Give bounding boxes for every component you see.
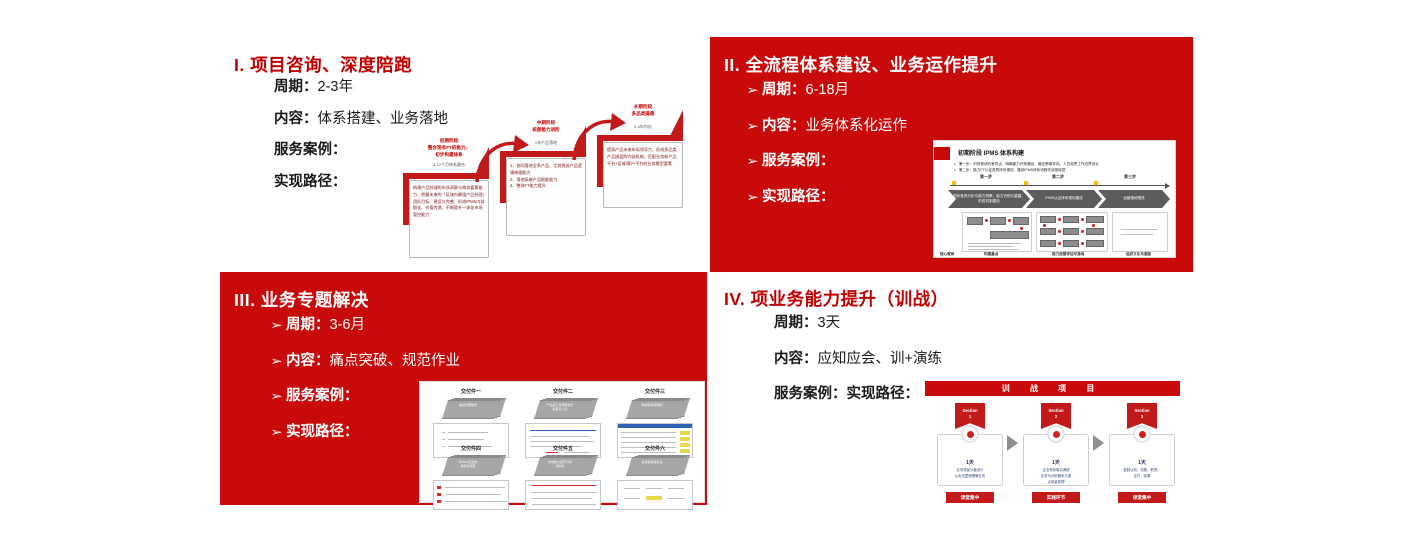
- ipms-bullet-0: 第一步：识别现状的差异点、明确能力识别路径、确定策略导向、人员权责工作边界设计: [954, 162, 1099, 167]
- ipms-node: [990, 231, 1029, 239]
- ipms-footer-3: 组织文化与激励: [1126, 252, 1151, 257]
- quadrant-iii-line-1-label: 内容：: [286, 354, 330, 369]
- ipms-connector-dot: [985, 219, 988, 222]
- list-item: 周期： 2-3年: [274, 80, 448, 95]
- quadrant-iii-line-2-label: 服务案例：: [286, 389, 359, 404]
- training-column-2: 1天 企业现状痛点调研业务为分析解析与重点场景梳理 Section 2 实践环节: [1021, 403, 1091, 429]
- training-card-2-desc: 企业现状痛点调研业务为分析解析与重点场景梳理: [1024, 468, 1088, 485]
- quadrant-ii-lines: ➢ 周期： 6-18月 ➢ 内容： 业务体系化运作 ➢ 服务案例： ➢ 实现路径…: [748, 83, 907, 204]
- ipms-footer-0: 核心载体: [940, 252, 954, 257]
- quadrant-iv-line-0-label: 周期：: [774, 316, 818, 331]
- ipms-connector-dot: [1081, 230, 1084, 233]
- deliverable-5-stack-icon: 市场能力差异分析评估表: [526, 455, 600, 477]
- training-ribbon-1-no: 1: [969, 414, 971, 419]
- deliverable-5-stack-label: 市场能力差异分析评估表: [536, 460, 584, 468]
- ipms-note-line: [968, 246, 1014, 247]
- training-footer-3: 课堂集中: [1118, 492, 1166, 503]
- bullet-arrow-icon: ➢: [270, 426, 288, 438]
- ipms-phase-1-chevron: IPMS认证体系规划建设: [1026, 190, 1102, 208]
- ipms-connector-dot: [1058, 242, 1061, 245]
- deliverable-5-preview: [525, 480, 601, 510]
- ipms-connector-dot: [1020, 227, 1023, 230]
- quadrant-ii-line-2-label: 服务案例：: [762, 154, 835, 169]
- ipms-tick-1: [1024, 181, 1028, 185]
- bullet-arrow-icon: ➢: [746, 191, 764, 203]
- bullet-arrow-icon: ➢: [746, 155, 764, 167]
- list-item: ➢ 周期： 6-18月: [748, 83, 907, 98]
- quadrant-ii-line-1-label: 内容：: [762, 119, 806, 134]
- training-card-3-desc: 复制认知、流程、职责、交付、结果: [1110, 468, 1174, 480]
- list-item: 内容： 应知应会、训+演练: [774, 352, 942, 367]
- ipms-note-line: [1121, 234, 1153, 235]
- training-node-3-icon: [1133, 425, 1151, 443]
- list-item: ➢ 实现路径：: [748, 190, 907, 205]
- deliverable-2-title: 交付件二: [520, 388, 606, 395]
- list-item: ➢ 服务案例：: [748, 154, 907, 169]
- quadrant-iv-line-1-value: 应知应会、训+演练: [818, 352, 942, 367]
- training-ribbon-3-label: Section: [1134, 408, 1149, 413]
- staircase-diagram-image: 初期阶段整合现有FT的能力、初步构建体系 6-12个月体系磨合 构建产品经理的市…: [395, 118, 705, 270]
- ipms-node: [1086, 228, 1104, 235]
- training-column-1: 1天 业务场景沙盘设计从实战逻辑理解业务 Section 1 课堂集中: [935, 403, 1005, 429]
- quadrant-i-line-1-label: 内容：: [274, 112, 318, 127]
- ipms-note-line: [1121, 229, 1157, 230]
- training-card-1-desc: 业务场景沙盘设计从实战逻辑理解业务: [938, 468, 1002, 480]
- list-item: ➢ 周期： 3-6月: [272, 318, 460, 333]
- training-footer-2: 实践环节: [1032, 492, 1080, 503]
- list-item: ➢ 内容： 痛点突破、规范作业: [272, 354, 460, 369]
- deliverable-cell-5: 交付件五 市场能力差异分析评估表: [520, 445, 606, 510]
- ipms-note-line: [968, 249, 1018, 250]
- ipms-footer-2: 能力运营评估与落地: [1052, 252, 1084, 257]
- ipms-phase-0-box: [962, 212, 1032, 252]
- ipms-connector-dot: [1081, 242, 1084, 245]
- ipms-node: [1040, 228, 1056, 235]
- quadrant-iv-lines: 周期： 3天 内容： 应知应会、训+演练 服务案例：实现路径：: [774, 316, 942, 402]
- ipms-timeline-axis: [950, 185, 1165, 186]
- quadrant-ii-line-0-value: 6-18月: [806, 83, 850, 98]
- ipms-phase-0-chevron: 现状差异分析与能力洞察、能力识别与重建、形成机制建设: [948, 190, 1030, 208]
- training-card-1-day: 1天: [938, 459, 1002, 466]
- ipms-phase-2-tick: 第三步: [1124, 174, 1136, 180]
- bullet-arrow-icon: ➢: [270, 390, 288, 402]
- deliverable-3-title: 交付件三: [612, 388, 698, 395]
- deliverable-4-preview: [433, 480, 509, 510]
- ipms-title: 初期阶段 IPMS 体系构建: [958, 148, 1024, 157]
- bullet-arrow-icon: ➢: [270, 355, 288, 367]
- deliverable-3-stack-icon: 岗位职责说明书: [618, 398, 692, 420]
- training-ribbon-1-label: Section: [962, 408, 977, 413]
- ipms-node: [1063, 216, 1079, 223]
- training-ribbon-2-no: 2: [1055, 414, 1057, 419]
- ipms-connector-dot: [1043, 224, 1046, 227]
- ipms-phase-2-box: [1112, 212, 1168, 252]
- training-ribbon-2-label: Section: [1048, 408, 1063, 413]
- quadrant-i-title: I. 项目咨询、深度陪跑: [234, 52, 412, 77]
- quadrant-ii-line-1-value: 业务体系化运作: [806, 119, 908, 134]
- ipms-system-diagram-image: 初期阶段 IPMS 体系构建 第一步：识别现状的差异点、明确能力识别路径、确定策…: [933, 140, 1176, 258]
- quadrant-ii-title: II. 全流程体系建设、业务运作提升: [724, 52, 997, 77]
- deliverable-3-stack-label: 岗位职责说明书: [628, 403, 676, 407]
- quadrant-iv-line-0-value: 3天: [818, 316, 841, 331]
- training-card-2-day: 1天: [1024, 459, 1088, 466]
- list-item: ➢ 内容： 业务体系化运作: [748, 119, 907, 134]
- quadrant-ii-line-0-label: 周期：: [762, 83, 806, 98]
- deliverables-grid-image: 交付件一 组织诊断报告 交付件二 产品线工作界面划分权责定义表: [419, 381, 705, 503]
- training-arrow-2-icon: [1093, 435, 1104, 451]
- ipms-node: [1040, 240, 1056, 247]
- quadrant-ii-line-3-label: 实现路径：: [762, 190, 835, 205]
- deliverable-6-stack-icon: 运营指标体系表: [618, 455, 692, 477]
- quadrant-iv-line-2-label: 服务案例：实现路径：: [774, 387, 919, 402]
- quadrant-i-line-3-label: 实现路径：: [274, 175, 347, 190]
- quadrant-iii-line-0-label: 周期：: [286, 318, 330, 333]
- slide-canvas: I. 项目咨询、深度陪跑 周期： 2-3年 内容： 体系搭建、业务落地 服务案例…: [0, 0, 1420, 557]
- staircase-arrow-1-icon: [473, 132, 533, 187]
- deliverable-2-stack-label: 产品线工作界面划分权责定义表: [536, 403, 584, 411]
- training-node-1-icon: [961, 425, 979, 443]
- deliverable-4-title: 交付件四: [428, 445, 514, 452]
- ipms-connector-dot: [1058, 230, 1061, 233]
- deliverable-cell-4: 交付件四 与IPMS匹配的组织方案集: [428, 445, 514, 510]
- ipms-footer-1: 构建重点: [984, 252, 998, 257]
- deliverable-1-title: 交付件一: [428, 388, 514, 395]
- quadrant-iii-title: III. 业务专题解决: [234, 287, 369, 312]
- ipms-node: [1063, 228, 1079, 235]
- training-footer-1: 课堂集中: [946, 492, 994, 503]
- staircase-step-3-cap: [670, 110, 683, 136]
- ipms-note-line: [968, 243, 1020, 244]
- training-column-3: 1天 复制认知、流程、职责、交付、结果 Section 3 课堂集中: [1107, 403, 1177, 429]
- quadrant-iii-line-0-value: 3-6月: [330, 318, 365, 333]
- deliverable-6-stack-label: 运营指标体系表: [628, 460, 676, 464]
- list-item: 服务案例：实现路径：: [774, 387, 942, 402]
- deliverable-4-stack-icon: 与IPMS匹配的组织方案集: [434, 455, 508, 477]
- quadrant-iv-title: IV. 项业务能力提升（训战）: [724, 286, 949, 311]
- training-banner: 训 战 项 目: [925, 381, 1180, 396]
- ipms-node: [1013, 217, 1029, 225]
- deliverable-2-stack-icon: 产品线工作界面划分权责定义表: [526, 398, 600, 420]
- deliverable-1-stack-icon: 组织诊断报告: [434, 398, 508, 420]
- ipms-node: [1086, 216, 1104, 223]
- training-arrow-1-icon: [1007, 435, 1018, 451]
- staircase-arrow-2-icon: [570, 110, 630, 165]
- ipms-phase-1-box: [1036, 212, 1108, 252]
- ipms-accent-tab: [934, 147, 950, 160]
- ipms-phase-0-tick: 第一步: [980, 174, 992, 180]
- quadrant-i-line-2-label: 服务案例：: [274, 143, 347, 158]
- quadrant-i-line-0-label: 周期：: [274, 80, 318, 95]
- ipms-bullet-1: 第二步：能力FT认证资质体系规划、建设IPMS体系流程作战指挥层: [954, 168, 1065, 173]
- deliverable-6-title: 交付件六: [612, 445, 698, 452]
- ipms-connector-dot: [1058, 218, 1061, 221]
- training-program-diagram-image: 训 战 项 目 1天 业务场景沙盘设计从实战逻辑理解业务 Section 1 课…: [925, 381, 1180, 501]
- bullet-arrow-icon: ➢: [746, 120, 764, 132]
- deliverable-4-stack-label: 与IPMS匹配的组织方案集: [444, 460, 492, 468]
- staircase-step-1-body: 构建产品经理的市场洞察与商务要素能力、把握未来的「区域内最强产品经理」团队目标、…: [409, 180, 489, 258]
- training-ribbon-3-no: 3: [1141, 414, 1143, 419]
- list-item: 周期： 3天: [774, 316, 942, 331]
- ipms-tick-0: [952, 181, 956, 185]
- bullet-arrow-icon: ➢: [746, 84, 764, 96]
- ipms-phase-1-tick: 第二步: [1052, 174, 1064, 180]
- deliverable-6-preview: [617, 480, 693, 510]
- ipms-node: [967, 217, 983, 225]
- ipms-node: [1063, 240, 1079, 247]
- quadrant-iii-line-1-value: 痛点突破、规范作业: [330, 354, 461, 369]
- ipms-node: [990, 217, 1006, 225]
- ipms-node: [1040, 216, 1056, 223]
- quadrant-iv-line-1-label: 内容：: [774, 352, 818, 367]
- ipms-connector-dot: [1092, 224, 1095, 227]
- ipms-node: [1086, 240, 1104, 247]
- deliverable-cell-6: 交付件六 运营指标体系表: [612, 445, 698, 510]
- ipms-connector-dot: [1081, 218, 1084, 221]
- training-card-3-day: 1天: [1110, 459, 1174, 466]
- ipms-phase-2-chevron: 运营落地推进: [1098, 190, 1170, 208]
- ipms-connector-dot: [1008, 219, 1011, 222]
- training-node-2-icon: [1047, 425, 1065, 443]
- bullet-arrow-icon: ➢: [270, 319, 288, 331]
- deliverable-1-stack-label: 组织诊断报告: [444, 403, 492, 407]
- ipms-tick-2: [1094, 181, 1098, 185]
- quadrant-i-line-0-value: 2-3年: [318, 80, 353, 95]
- deliverable-5-title: 交付件五: [520, 445, 606, 452]
- quadrant-iii-line-3-label: 实现路径：: [286, 425, 359, 440]
